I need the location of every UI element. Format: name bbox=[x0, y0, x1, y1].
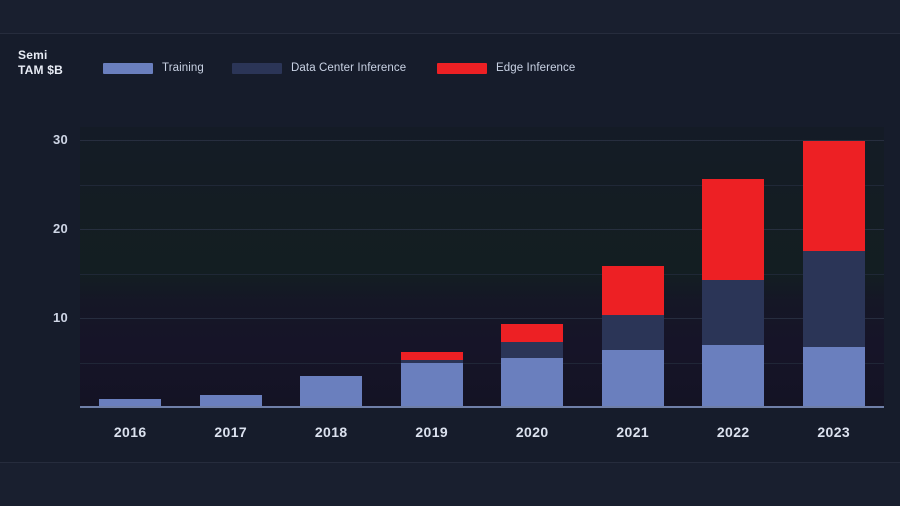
bar-slot-2018[interactable] bbox=[281, 127, 382, 407]
bar-segment-2022-edge-inference[interactable] bbox=[702, 179, 764, 279]
x-axis-tick-2017: 2017 bbox=[181, 424, 282, 446]
x-axis-tick-2018: 2018 bbox=[281, 424, 382, 446]
x-axis-tick-2023: 2023 bbox=[784, 424, 885, 446]
bar-stack-2020[interactable] bbox=[501, 324, 563, 407]
chart-plot-wrapper: 302010 20162017201820192020202120222023 bbox=[0, 0, 900, 506]
bar-segment-2023-training[interactable] bbox=[803, 347, 865, 407]
bar-segment-2023-edge-inference[interactable] bbox=[803, 141, 865, 250]
bar-segment-2020-edge-inference[interactable] bbox=[501, 324, 563, 342]
x-axis-tick-2020: 2020 bbox=[482, 424, 583, 446]
bottom-letterbox-band bbox=[0, 463, 900, 506]
x-axis-tick-2021: 2021 bbox=[583, 424, 684, 446]
bar-segment-2022-training[interactable] bbox=[702, 345, 764, 407]
bar-segment-2020-data-center-inference[interactable] bbox=[501, 342, 563, 358]
x-axis-line bbox=[80, 406, 884, 408]
chart-screenshot: Semi TAM $B Training Data Center Inferen… bbox=[0, 0, 900, 506]
x-axis-tick-2016: 2016 bbox=[80, 424, 181, 446]
y-axis-tick-30: 30 bbox=[22, 132, 68, 147]
bar-group bbox=[80, 127, 884, 407]
bar-slot-2021[interactable] bbox=[583, 127, 684, 407]
x-axis-tick-2019: 2019 bbox=[382, 424, 483, 446]
bar-slot-2023[interactable] bbox=[784, 127, 885, 407]
bar-stack-2019[interactable] bbox=[401, 352, 463, 407]
bar-slot-2019[interactable] bbox=[382, 127, 483, 407]
bar-segment-2019-training[interactable] bbox=[401, 363, 463, 407]
bar-stack-2018[interactable] bbox=[300, 376, 362, 407]
bar-segment-2022-data-center-inference[interactable] bbox=[702, 280, 764, 345]
bar-segment-2018-training[interactable] bbox=[300, 376, 362, 407]
bar-segment-2021-data-center-inference[interactable] bbox=[602, 315, 664, 351]
plot-area bbox=[80, 127, 884, 407]
bar-stack-2021[interactable] bbox=[602, 266, 664, 407]
bar-stack-2023[interactable] bbox=[803, 141, 865, 407]
bar-slot-2016[interactable] bbox=[80, 127, 181, 407]
x-axis-tick-labels: 20162017201820192020202120222023 bbox=[80, 424, 884, 446]
bar-slot-2020[interactable] bbox=[482, 127, 583, 407]
bar-slot-2022[interactable] bbox=[683, 127, 784, 407]
y-axis-tick-20: 20 bbox=[22, 221, 68, 236]
bar-segment-2021-training[interactable] bbox=[602, 350, 664, 407]
bar-segment-2019-edge-inference[interactable] bbox=[401, 352, 463, 360]
bar-segment-2023-data-center-inference[interactable] bbox=[803, 251, 865, 347]
bar-stack-2022[interactable] bbox=[702, 179, 764, 407]
bar-segment-2020-training[interactable] bbox=[501, 358, 563, 407]
x-axis-tick-2022: 2022 bbox=[683, 424, 784, 446]
bar-slot-2017[interactable] bbox=[181, 127, 282, 407]
bar-segment-2021-edge-inference[interactable] bbox=[602, 266, 664, 315]
y-axis-tick-10: 10 bbox=[22, 310, 68, 325]
